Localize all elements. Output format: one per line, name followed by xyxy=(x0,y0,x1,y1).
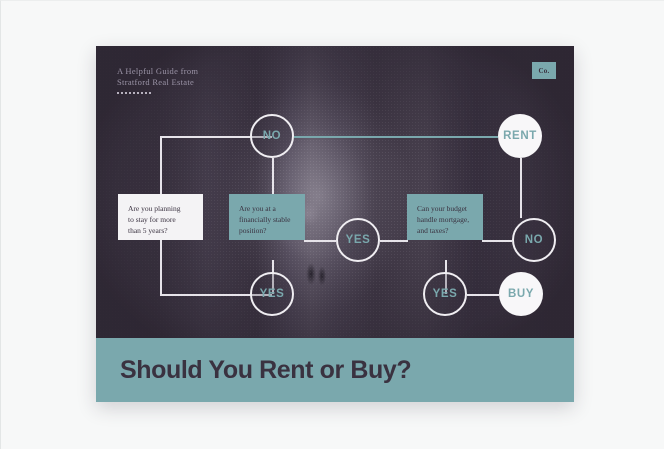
node-yes-middle[interactable]: YES xyxy=(336,218,380,262)
node-yes-bottom-left[interactable]: YES xyxy=(250,272,294,316)
node-buy[interactable]: BUY xyxy=(499,272,543,316)
question-box-budget-mortgage-taxes: Can your budget handle mortgage, and tax… xyxy=(407,194,483,240)
page-title: Should You Rent or Buy? xyxy=(120,356,411,385)
page-background: A Helpful Guide from Stratford Real Esta… xyxy=(0,0,664,449)
flowchart: Are you planning to stay for more than 5… xyxy=(96,46,574,338)
node-no-right[interactable]: NO xyxy=(512,218,556,262)
connector-q3-to-no2 xyxy=(482,240,512,242)
node-rent[interactable]: RENT xyxy=(498,114,542,158)
connector-no1-to-rent xyxy=(294,136,498,138)
connector-rent-to-no2 xyxy=(520,158,522,218)
question-box-stay-5-years: Are you planning to stay for more than 5… xyxy=(118,194,203,240)
title-band: Should You Rent or Buy? xyxy=(96,338,574,402)
node-yes-bottom-right[interactable]: YES xyxy=(423,272,467,316)
node-no-top[interactable]: NO xyxy=(250,114,294,158)
question-box-financially-stable: Are you at a financially stable position… xyxy=(229,194,305,240)
connector-yes2-to-q3 xyxy=(380,240,408,242)
connector-q2-to-yes2 xyxy=(304,240,336,242)
infographic-card: A Helpful Guide from Stratford Real Esta… xyxy=(96,46,574,402)
connector-yes3-to-buy xyxy=(467,294,499,296)
